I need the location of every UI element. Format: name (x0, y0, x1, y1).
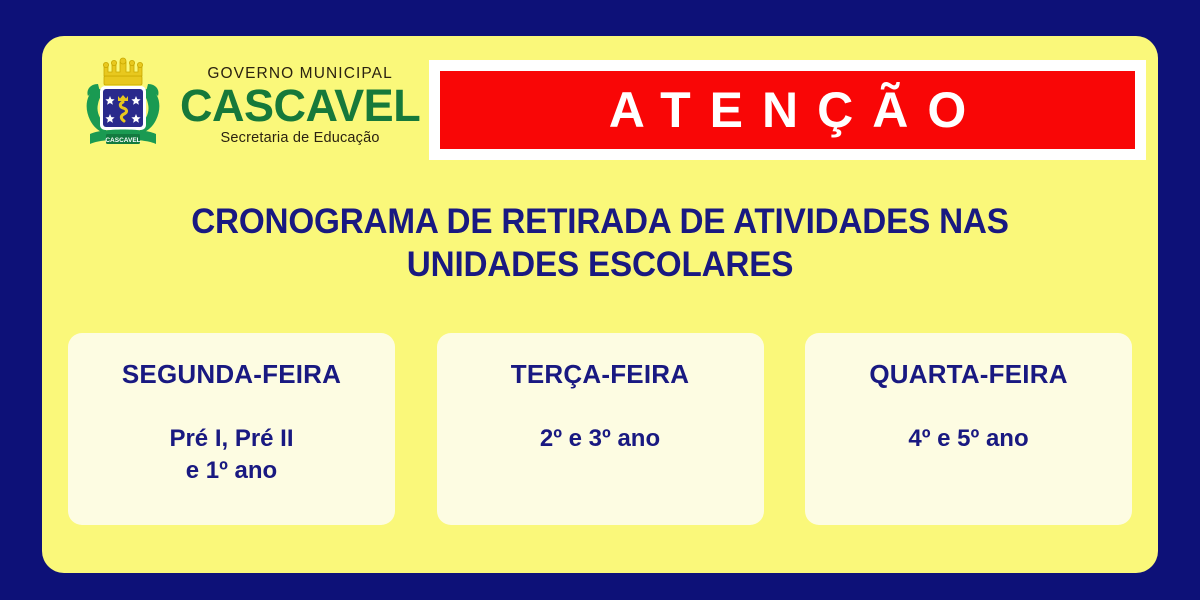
announcement-poster: CASCAVEL GOVERNO MUNICIPAL CASCAVEL Secr… (42, 36, 1158, 573)
schedule-card-grades: 2º e 3º ano (540, 423, 660, 455)
page-title: CRONOGRAMA DE RETIRADA DE ATIVIDADES NAS… (70, 201, 1130, 286)
attention-banner: ATENÇÃO (440, 71, 1135, 149)
poster-header: CASCAVEL GOVERNO MUNICIPAL CASCAVEL Secr… (42, 36, 1158, 176)
brand-city-name: CASCAVEL (180, 84, 420, 128)
brand-wordmark: GOVERNO MUNICIPAL CASCAVEL Secretaria de… (180, 66, 420, 145)
page-title-line-2: UNIDADES ESCOLARES (70, 244, 1130, 287)
schedule-card-list: SEGUNDA-FEIRA Pré I, Pré II e 1º ano TER… (68, 333, 1132, 525)
schedule-card-day: QUARTA-FEIRA (869, 359, 1067, 390)
schedule-card-day: SEGUNDA-FEIRA (122, 359, 341, 390)
brand-lockup: CASCAVEL GOVERNO MUNICIPAL CASCAVEL Secr… (80, 54, 420, 158)
brand-department: Secretaria de Educação (221, 131, 380, 146)
attention-banner-frame: ATENÇÃO (429, 60, 1146, 160)
schedule-card-day: TERÇA-FEIRA (511, 359, 689, 390)
crest-motto: CASCAVEL (105, 137, 140, 144)
schedule-card-grades: 4º e 5º ano (908, 423, 1028, 455)
schedule-card-grades: Pré I, Pré II e 1º ano (169, 423, 293, 487)
schedule-card-monday: SEGUNDA-FEIRA Pré I, Pré II e 1º ano (68, 333, 395, 525)
schedule-card-wednesday: QUARTA-FEIRA 4º e 5º ano (805, 333, 1132, 525)
attention-label: ATENÇÃO (590, 85, 986, 135)
cascavel-coat-of-arms-icon: CASCAVEL (80, 54, 166, 158)
page-title-line-1: CRONOGRAMA DE RETIRADA DE ATIVIDADES NAS (70, 201, 1130, 244)
schedule-card-tuesday: TERÇA-FEIRA 2º e 3º ano (437, 333, 764, 525)
